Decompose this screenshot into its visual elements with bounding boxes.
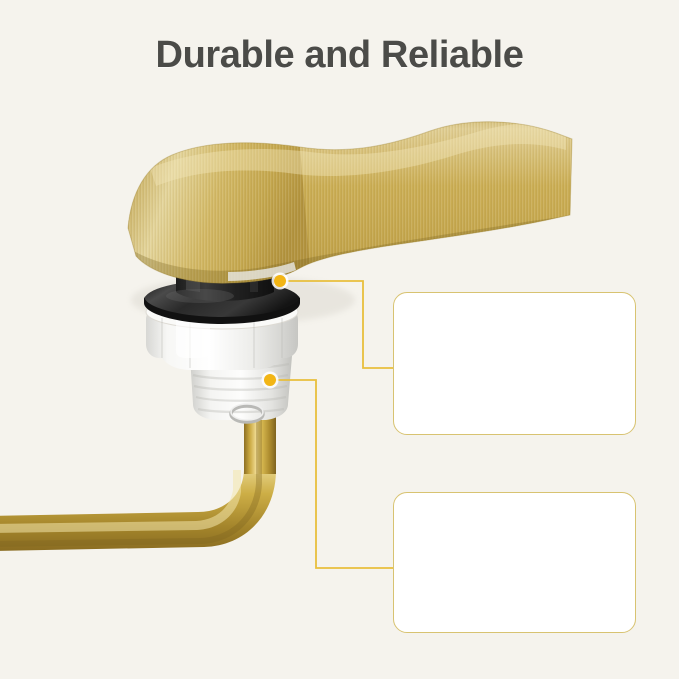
- callout-box-black-gasket: [393, 292, 636, 435]
- callout-dot-black-gasket: [274, 275, 286, 287]
- callout-dot-white-washer: [264, 374, 276, 386]
- page-title: Durable and Reliable: [0, 34, 679, 77]
- handle-lever: [100, 110, 600, 300]
- product-infographic: Durable and Reliable: [0, 0, 679, 679]
- callout-box-white-washer: [393, 492, 636, 633]
